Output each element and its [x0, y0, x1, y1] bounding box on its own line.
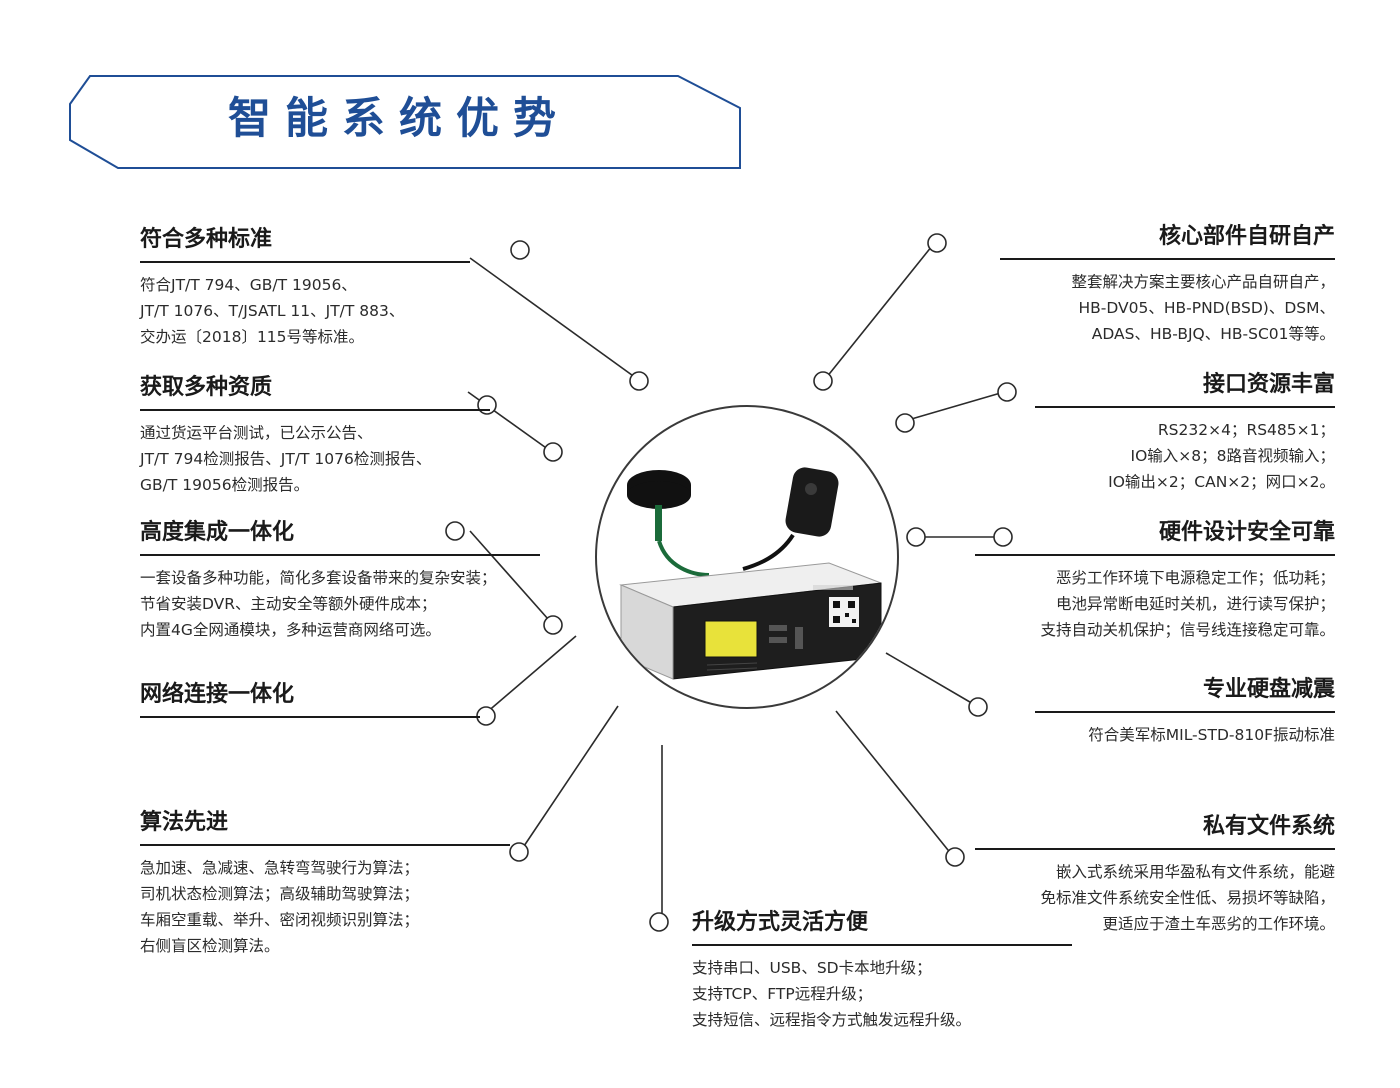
block-core-components-title: 核心部件自研自产 — [1000, 222, 1335, 252]
block-core-components-rule — [1000, 258, 1335, 260]
block-file-system-title: 私有文件系统 — [975, 812, 1335, 842]
block-qualifications-body: 通过货运平台测试，已公示公告、 JT/T 794检测报告、JT/T 1076检测… — [140, 420, 490, 498]
block-interfaces-rule — [1035, 406, 1335, 408]
block-hardware-safety-body: 恶劣工作环境下电源稳定工作；低功耗； 电池异常断电延时关机，进行读写保护； 支持… — [975, 565, 1335, 643]
block-interfaces: 接口资源丰富 RS232×4；RS485×1； IO输入×8；8路音视频输入； … — [1035, 370, 1335, 495]
block-disk-shock-title: 专业硬盘减震 — [1035, 675, 1335, 705]
block-algorithm: 算法先进 急加速、急减速、急转弯驾驶行为算法； 司机状态检测算法；高级辅助驾驶算… — [140, 808, 510, 959]
block-core-components-body: 整套解决方案主要核心产品自研自产， HB-DV05、HB-PND(BSD)、DS… — [1000, 269, 1335, 347]
block-algorithm-title: 算法先进 — [140, 808, 510, 838]
block-interfaces-title: 接口资源丰富 — [1035, 370, 1335, 400]
gps-antenna-icon — [627, 470, 691, 541]
block-qualifications-rule — [140, 409, 490, 411]
block-interfaces-body: RS232×4；RS485×1； IO输入×8；8路音视频输入； IO输出×2；… — [1035, 417, 1335, 495]
block-upgrade-body: 支持串口、USB、SD卡本地升级； 支持TCP、FTP远程升级； 支持短信、远程… — [692, 955, 1072, 1033]
block-network-integration-rule — [140, 716, 480, 718]
block-hardware-safety: 硬件设计安全可靠 恶劣工作环境下电源稳定工作；低功耗； 电池异常断电延时关机，进… — [975, 518, 1335, 643]
page-title: 智能系统优势 — [68, 62, 768, 182]
block-standards-title: 符合多种标准 — [140, 225, 470, 255]
block-qualifications-title: 获取多种资质 — [140, 373, 490, 403]
block-integration-body: 一套设备多种功能，简化多套设备带来的复杂安装； 节省安装DVR、主动安全等额外硬… — [140, 565, 540, 643]
block-algorithm-body: 急加速、急减速、急转弯驾驶行为算法； 司机状态检测算法；高级辅助驾驶算法； 车厢… — [140, 855, 510, 959]
block-core-components: 核心部件自研自产 整套解决方案主要核心产品自研自产， HB-DV05、HB-PN… — [1000, 222, 1335, 347]
block-upgrade-rule — [692, 944, 1072, 946]
center-device-circle — [595, 405, 899, 709]
block-hardware-safety-title: 硬件设计安全可靠 — [975, 518, 1335, 548]
block-standards-rule — [140, 261, 470, 263]
block-integration-title: 高度集成一体化 — [140, 518, 540, 548]
device-illustration — [597, 407, 897, 707]
block-algorithm-rule — [140, 844, 510, 846]
block-file-system-rule — [975, 848, 1335, 850]
block-upgrade: 升级方式灵活方便 支持串口、USB、SD卡本地升级； 支持TCP、FTP远程升级… — [692, 908, 1072, 1033]
block-network-integration-title: 网络连接一体化 — [140, 680, 480, 710]
block-standards-body: 符合JT/T 794、GB/T 19056、 JT/T 1076、T/JSATL… — [140, 272, 470, 350]
block-network-integration: 网络连接一体化 — [140, 680, 480, 718]
block-integration-rule — [140, 554, 540, 556]
block-disk-shock-body: 符合美军标MIL-STD-810F振动标准 — [1035, 722, 1335, 748]
block-standards: 符合多种标准 符合JT/T 794、GB/T 19056、 JT/T 1076、… — [140, 225, 470, 350]
block-upgrade-title: 升级方式灵活方便 — [692, 908, 1072, 938]
dvr-recorder-unit — [621, 563, 881, 679]
page-title-text: 智能系统优势 — [228, 84, 570, 146]
block-disk-shock-rule — [1035, 711, 1335, 713]
block-hardware-safety-rule — [975, 554, 1335, 556]
camera-module-icon — [743, 466, 840, 569]
infographic-canvas: 智能系统优势 — [0, 0, 1400, 1088]
block-integration: 高度集成一体化 一套设备多种功能，简化多套设备带来的复杂安装； 节省安装DVR、… — [140, 518, 540, 643]
block-disk-shock: 专业硬盘减震 符合美军标MIL-STD-810F振动标准 — [1035, 675, 1335, 748]
block-qualifications: 获取多种资质 通过货运平台测试，已公示公告、 JT/T 794检测报告、JT/T… — [140, 373, 490, 498]
